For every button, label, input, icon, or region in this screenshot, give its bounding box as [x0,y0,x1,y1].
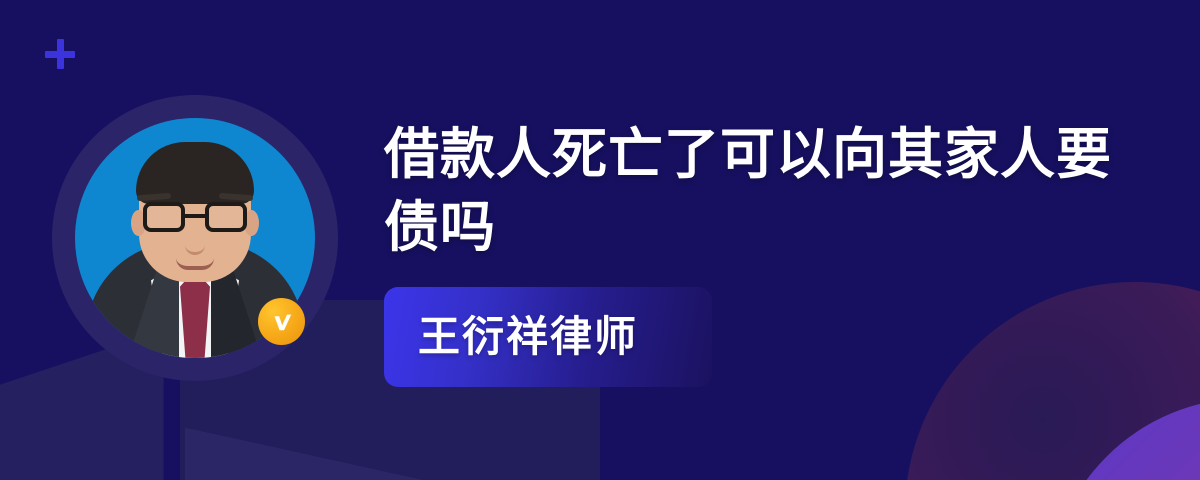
lawyer-name-badge[interactable]: 王衍祥律师 [384,287,712,387]
eyeglass-bridge [185,214,205,218]
decorative-blob-inner [1048,398,1200,480]
portrait-nose [185,230,205,255]
portrait-mouth [176,258,214,270]
eyeglass-lens-right [205,202,247,232]
page-title: 借款人死亡了可以向其家人要债吗 [384,118,1114,263]
plus-icon [45,39,75,69]
avatar[interactable] [52,95,338,381]
decorative-triangle-bottom [185,418,505,480]
portrait-necktie [180,270,210,358]
eyeglass-lens-left [143,202,185,232]
verified-check-icon [258,298,305,345]
content-column: 借款人死亡了可以向其家人要债吗 王衍祥律师 [384,118,1114,387]
lawyer-qa-banner: 借款人死亡了可以向其家人要债吗 王衍祥律师 [0,0,1200,480]
plus-icon-vertical-bar [57,39,64,69]
lawyer-name-label: 王衍祥律师 [418,316,638,358]
